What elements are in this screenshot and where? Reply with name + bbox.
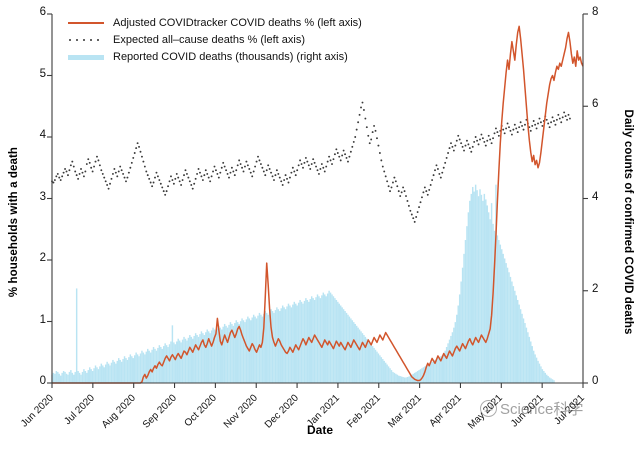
legend-swatch-line-icon — [68, 18, 104, 28]
chart-canvas — [0, 0, 640, 444]
legend-item-reported: Reported COVID deaths (thousands) (right… — [68, 48, 362, 65]
y-axis-right-title-wrap: Daily counts of confirmed COVID deaths — [618, 0, 638, 444]
y-tick-left-1: 1 — [34, 314, 46, 326]
y-tick-left-2: 2 — [34, 252, 46, 264]
y-axis-right-title: Daily counts of confirmed COVID deaths — [618, 0, 638, 444]
legend-swatch-band-icon — [68, 52, 104, 62]
y-tick-right-4: 4 — [592, 191, 598, 203]
legend-label-adjusted: Adjusted COVIDtracker COVID deaths % (le… — [113, 17, 362, 29]
y-tick-left-0: 0 — [34, 375, 46, 387]
legend-label-reported: Reported COVID deaths (thousands) (right… — [113, 51, 348, 63]
legend-label-expected: Expected all–cause deaths % (left axis) — [113, 34, 305, 46]
bars-reported-covid-deaths — [51, 185, 554, 383]
legend-swatch-dotted-icon — [68, 35, 104, 45]
y-tick-right-0: 0 — [592, 375, 598, 387]
legend-item-expected: Expected all–cause deaths % (left axis) — [68, 31, 362, 48]
y-tick-right-8: 8 — [592, 6, 598, 18]
y-axis-left-title-wrap: % households with a death — [6, 0, 26, 444]
series-expected-all-cause-deaths — [51, 102, 571, 223]
y-tick-right-2: 2 — [592, 283, 598, 295]
y-tick-left-4: 4 — [34, 129, 46, 141]
y-tick-left-6: 6 — [34, 6, 46, 18]
legend-item-adjusted: Adjusted COVIDtracker COVID deaths % (le… — [68, 14, 362, 31]
y-axis-left-title: % households with a death — [4, 0, 24, 444]
y-tick-left-3: 3 — [34, 191, 46, 203]
y-tick-right-6: 6 — [592, 98, 598, 110]
chart-legend: Adjusted COVIDtracker COVID deaths % (le… — [68, 14, 362, 65]
y-tick-left-5: 5 — [34, 68, 46, 80]
chart-figure: % households with a death Daily counts o… — [0, 0, 640, 444]
